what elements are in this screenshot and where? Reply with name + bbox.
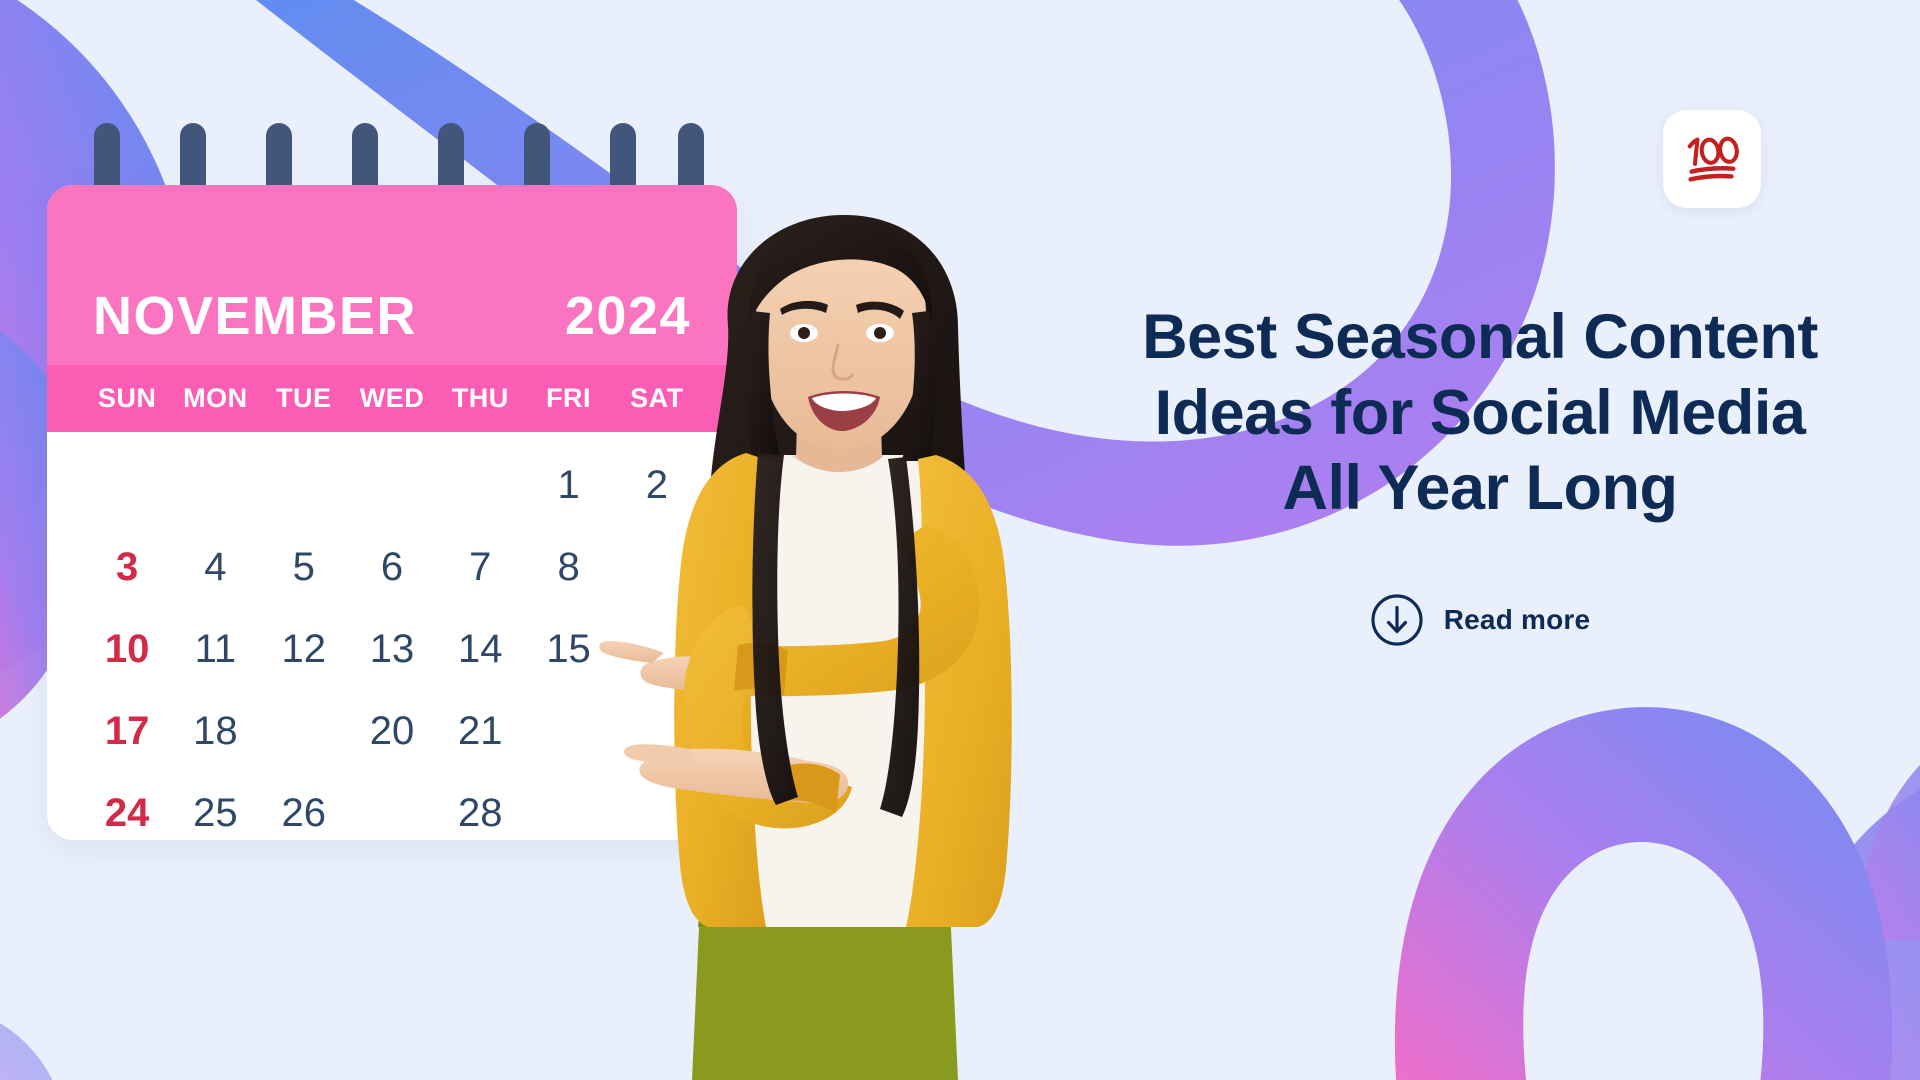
calendar-month-label: NOVEMBER <box>93 289 417 343</box>
date-cell[interactable]: 24 <box>83 784 171 842</box>
date-cell[interactable]: 15 <box>524 620 612 678</box>
weekday-fri: FRI <box>524 383 612 414</box>
date-cell[interactable]: 25 <box>171 784 259 842</box>
date-cell[interactable]: 8 <box>524 538 612 596</box>
arrow-down-circle-icon <box>1370 593 1424 647</box>
calendar-month-row: NOVEMBER 2024 <box>47 185 737 365</box>
date-cell[interactable]: 2 <box>613 456 701 514</box>
date-cell[interactable]: 6 <box>348 538 436 596</box>
date-cell[interactable]: 1 <box>524 456 612 514</box>
date-cell[interactable]: 28 <box>436 784 524 842</box>
content-column: Best Seasonal Content Ideas for Social M… <box>1130 300 1830 652</box>
date-cell[interactable]: 5 <box>260 538 348 596</box>
weekday-thu: THU <box>436 383 524 414</box>
date-cell[interactable]: 18 <box>171 702 259 760</box>
page-title: Best Seasonal Content Ideas for Social M… <box>1130 300 1830 527</box>
hundred-points-emoji-icon <box>1681 128 1743 190</box>
date-cell[interactable]: 21 <box>436 702 524 760</box>
weekday-sat: SAT <box>613 383 701 414</box>
blob-bottom-left <box>0 1000 70 1080</box>
date-cell <box>83 456 171 514</box>
weekday-sun: SUN <box>83 383 171 414</box>
weekday-tue: TUE <box>260 383 348 414</box>
blob-bottom-arch <box>1395 707 1892 1080</box>
date-cell[interactable]: 10 <box>83 620 171 678</box>
date-cell[interactable]: 7 <box>436 538 524 596</box>
weekday-wed: WED <box>348 383 436 414</box>
date-cell[interactable]: 4 <box>171 538 259 596</box>
date-cell <box>436 456 524 514</box>
weekday-mon: MON <box>171 383 259 414</box>
date-cell[interactable]: 3 <box>83 538 171 596</box>
date-cell[interactable]: 11 <box>171 620 259 678</box>
date-cell[interactable]: 20 <box>348 702 436 760</box>
date-cell[interactable]: 13 <box>348 620 436 678</box>
calendar-weekday-row: SUN MON TUE WED THU FRI SAT <box>47 365 737 432</box>
date-cell <box>171 456 259 514</box>
calendar-date-grid: 1 2 3 4 5 6 7 8 9 10 11 12 13 14 15 16 1… <box>47 432 737 842</box>
date-cell[interactable]: 14 <box>436 620 524 678</box>
date-cell <box>348 456 436 514</box>
calendar-year-label: 2024 <box>565 289 691 343</box>
date-cell <box>260 456 348 514</box>
read-more-button[interactable]: Read more <box>1370 593 1591 647</box>
date-cell[interactable]: 17 <box>83 702 171 760</box>
date-cell[interactable]: 12 <box>260 620 348 678</box>
read-more-label: Read more <box>1444 604 1591 636</box>
date-cell[interactable]: 26 <box>260 784 348 842</box>
hundred-points-badge[interactable] <box>1663 110 1761 208</box>
banner-canvas: NOVEMBER 2024 SUN MON TUE WED THU FRI SA… <box>0 0 1920 1080</box>
calendar-card: NOVEMBER 2024 SUN MON TUE WED THU FRI SA… <box>47 185 737 840</box>
